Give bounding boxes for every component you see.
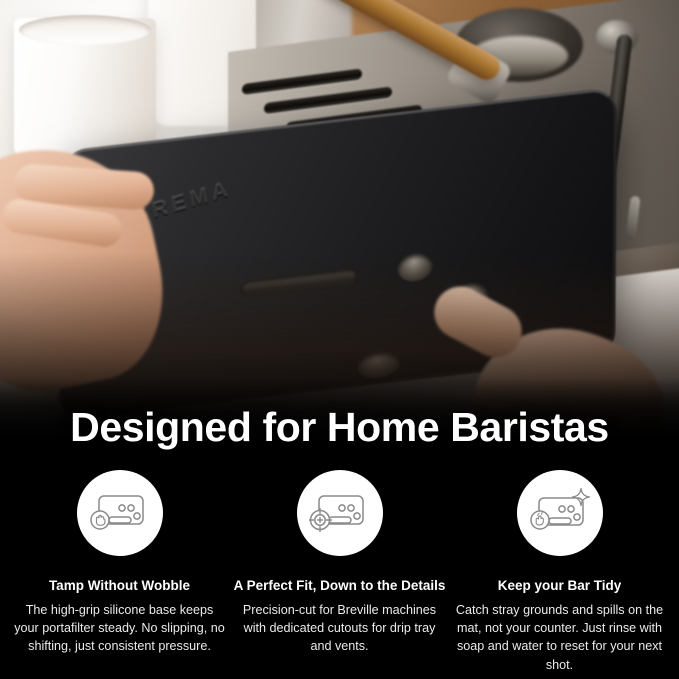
- feature-title: Tamp Without Wobble: [49, 578, 190, 595]
- feature-list: Tamp Without Wobble The high-grip silico…: [0, 470, 679, 674]
- mat-with-crosshair-target-icon: [309, 488, 371, 538]
- product-feature-image: CREMA Designed for Home Baristas: [0, 0, 679, 679]
- hero-photo: CREMA: [0, 0, 679, 440]
- feature-icon-badge: [297, 470, 383, 556]
- feature-item-a-perfect-fit: A Perfect Fit, Down to the Details Preci…: [230, 470, 449, 674]
- mat-with-grip-hand-icon: [89, 488, 151, 538]
- feature-title: Keep your Bar Tidy: [498, 578, 622, 595]
- feature-panel: Designed for Home Baristas: [0, 378, 679, 679]
- feature-description: The high-grip silicone base keeps your p…: [10, 601, 229, 656]
- feature-description: Catch stray grounds and spills on the ma…: [450, 601, 669, 674]
- feature-item-tamp-without-wobble: Tamp Without Wobble The high-grip silico…: [10, 470, 229, 674]
- feature-description: Precision-cut for Breville machines with…: [230, 601, 449, 656]
- feature-icon-badge: [517, 470, 603, 556]
- feature-title: A Perfect Fit, Down to the Details: [234, 578, 446, 595]
- page-title: Designed for Home Baristas: [0, 404, 679, 451]
- mat-with-sparkle-wipe-icon: [529, 488, 591, 538]
- cup-rim: [19, 15, 151, 45]
- feature-item-keep-your-bar-tidy: Keep your Bar Tidy Catch stray grounds a…: [450, 470, 669, 674]
- feature-icon-badge: [77, 470, 163, 556]
